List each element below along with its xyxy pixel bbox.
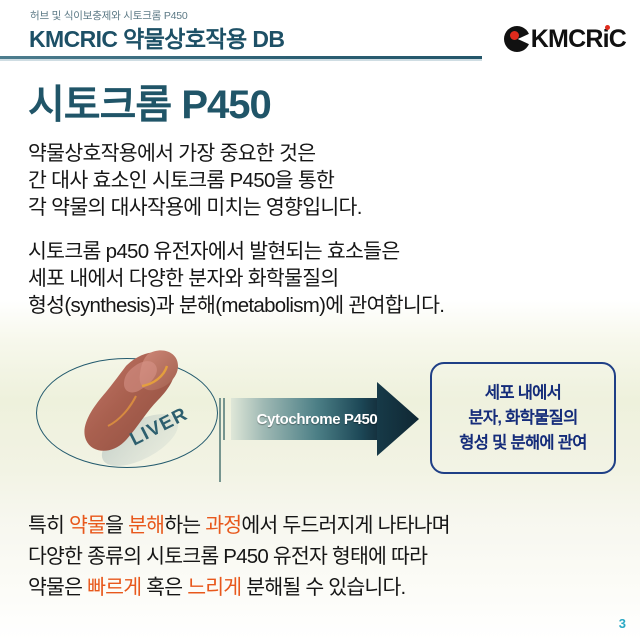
logo-i-dot-icon [605,25,610,30]
paragraph-1-line-3: 각 약물의 대사작용에 미치는 영향입니다. [28,194,362,221]
cytochrome-arrow: Cytochrome P450 [219,380,419,456]
paragraph-1: 약물상호작용에서 가장 중요한 것은 간 대사 효소인 시토크롬 P450을 통… [28,140,362,221]
paragraph-2-line-2: 세포 내에서 다양한 분자와 화학물질의 [28,265,444,292]
paragraph-1-line-1: 약물상호작용에서 가장 중요한 것은 [28,140,362,167]
kmcric-logo[interactable]: KMCRiC [504,24,626,54]
header-rule-shadow [0,59,482,61]
header-rule [0,56,482,59]
highlighted-term: 과정 [205,514,241,537]
text-run: 혹은 [141,576,187,599]
page-title: 시토크롬 P450 [28,72,271,130]
slide-canvas: 허브 및 식이보충제와 시토크롬 P450 KMCRIC 약물상호작용 DB K… [0,0,640,640]
highlighted-term: 느리게 [187,576,241,599]
paragraph-3-line-3: 약물은 빠르게 혹은 느리게 분해될 수 있습니다. [28,572,450,603]
slide-header: 허브 및 식이보충제와 시토크롬 P450 KMCRIC 약물상호작용 DB K… [0,0,640,62]
arrow-label: Cytochrome P450 [247,398,387,440]
text-run: 다양한 종류의 시토크롬 P450 유전자 형태에 따라 [28,545,427,568]
arrow-tick-marks-icon [219,398,228,440]
paragraph-3-line-2: 다양한 종류의 시토크롬 P450 유전자 형태에 따라 [28,541,450,572]
paragraph-2-line-3: 형성(synthesis)과 분해(metabolism)에 관여합니다. [28,292,444,319]
highlighted-term: 빠르게 [87,576,141,599]
text-run: 을 [105,514,128,537]
paragraph-2: 시토크롬 p450 유전자에서 발현되는 효소들은 세포 내에서 다양한 분자와… [28,238,444,319]
highlighted-term: 약물 [69,514,105,537]
paragraph-2-line-1: 시토크롬 p450 유전자에서 발현되는 효소들은 [28,238,444,265]
text-run: 하는 [164,514,205,537]
result-line-1: 세포 내에서 [485,381,561,406]
result-line-2: 분자, 화학물질의 [468,406,577,431]
paragraph-3-line-1: 특히 약물을 분해하는 과정에서 두드러지게 나타나며 [28,510,450,541]
result-callout-box: 세포 내에서 분자, 화학물질의 형성 및 분해에 관여 [430,362,616,474]
page-number: 3 [619,616,626,631]
logo-red-dot-icon [510,31,519,40]
paragraph-1-line-2: 간 대사 효소인 시토크롬 P450을 통한 [28,167,362,194]
logo-wordmark: KMCRiC [531,26,626,52]
liver-illustration: LIVER [30,344,240,484]
process-diagram: LIVER Cytochrome P450 세포 내에서 분자, 화학물질의 형… [0,344,640,496]
logo-circle-icon [504,26,530,52]
text-run: 분해될 수 있습니다. [241,576,405,599]
text-run: 에서 두드러지게 나타나며 [241,514,449,537]
text-run: 약물은 [28,576,87,599]
highlighted-term: 분해 [128,514,164,537]
paragraph-3: 특히 약물을 분해하는 과정에서 두드러지게 나타나며 다양한 종류의 시토크롬… [28,510,450,603]
header-site-title: KMCRIC 약물상호작용 DB [29,20,284,54]
result-line-3: 형성 및 분해에 관여 [459,431,587,456]
text-run: 특히 [28,514,69,537]
